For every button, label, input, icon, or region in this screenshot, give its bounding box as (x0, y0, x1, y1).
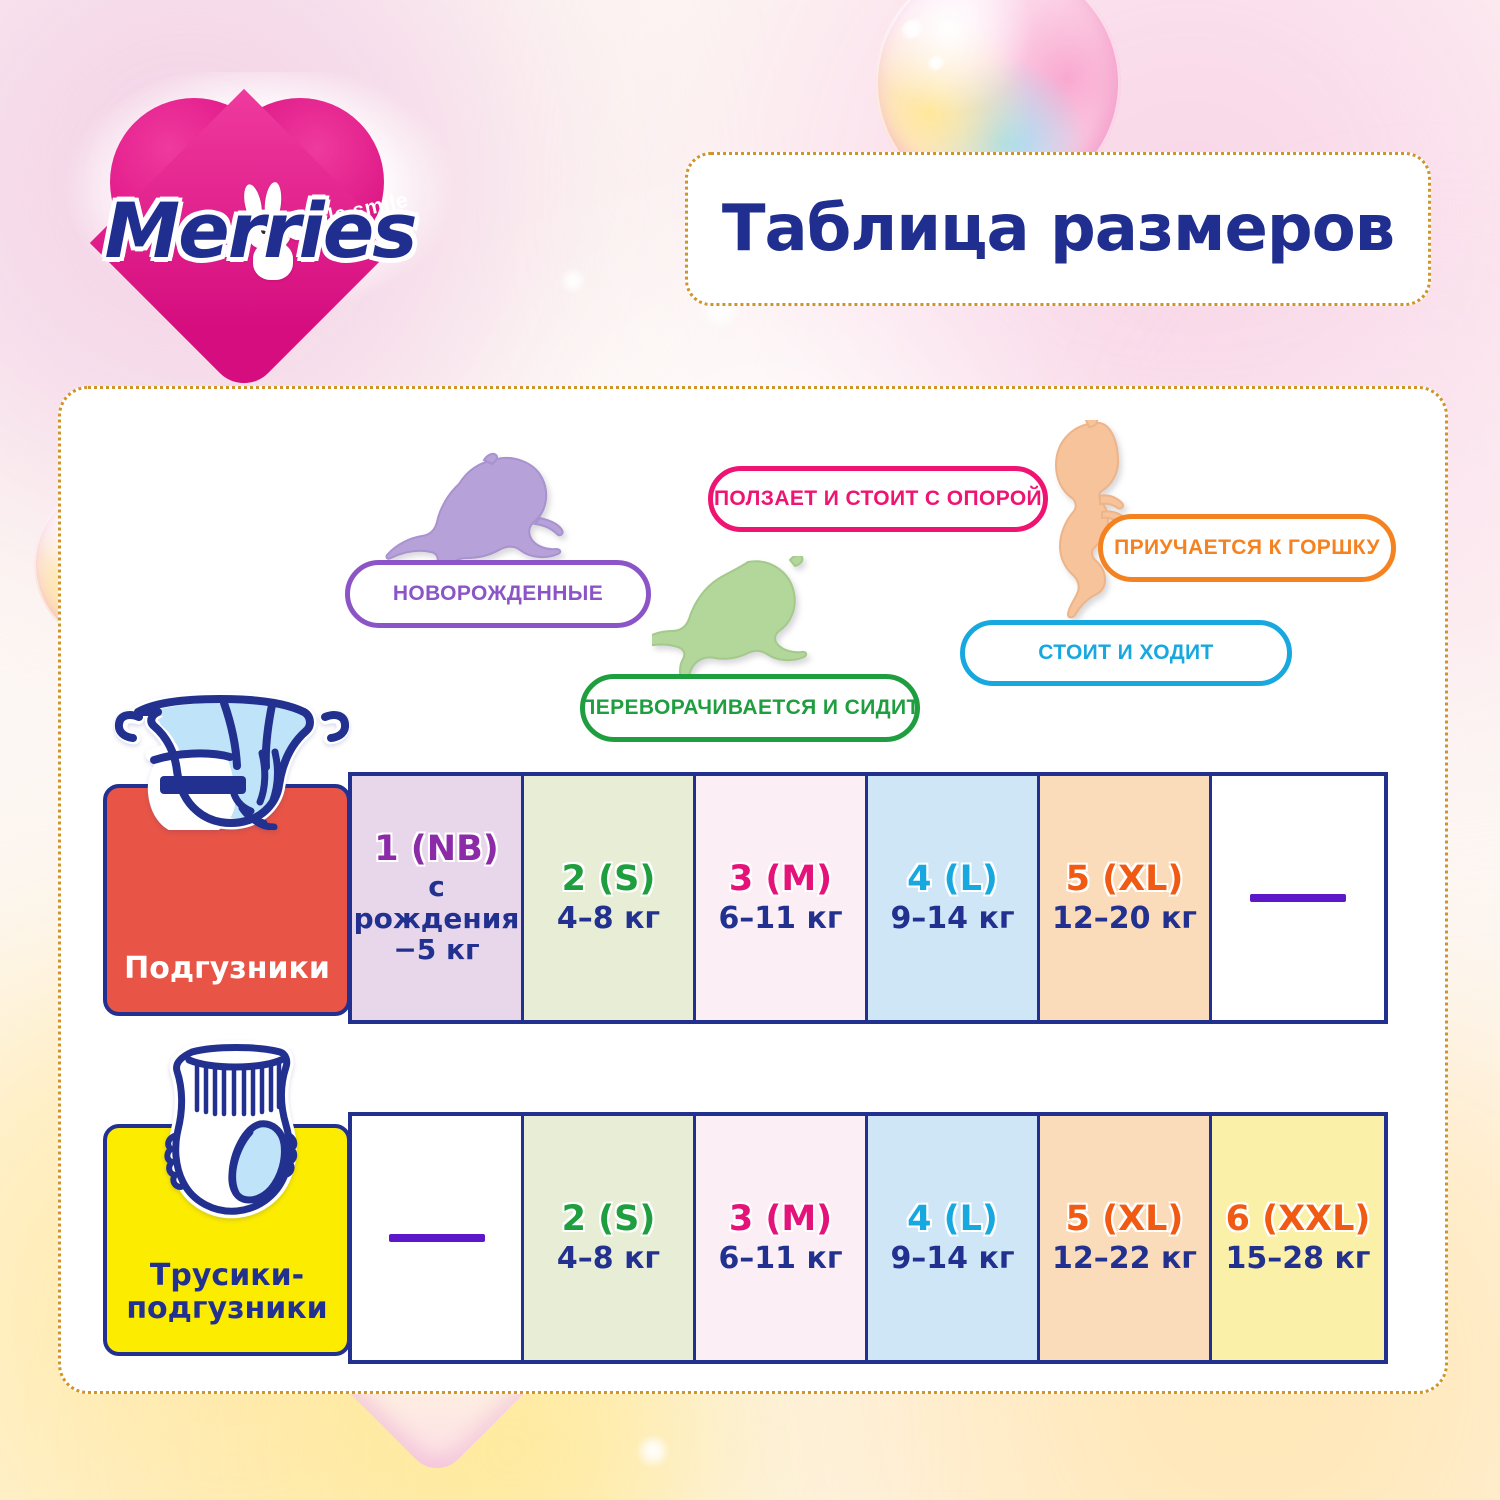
size-label: 4 (L) (907, 861, 998, 898)
size-label: 5 (XL) (1066, 1201, 1184, 1238)
weight-range-label: 6–11 кг (718, 1242, 842, 1276)
merries-logo: smile smile Merries (80, 86, 440, 301)
stage-pill-newborn-label: НОВОРОЖДЕННЫЕ (393, 582, 603, 606)
sparkle (636, 1434, 670, 1468)
size-label: 2 (S) (562, 1201, 656, 1238)
size-label: 3 (M) (729, 1201, 832, 1238)
stage-pill-stands-and-walks[interactable]: СТОИТ И ХОДИТ (960, 620, 1292, 686)
size-cell-pants-2[interactable]: 2 (S)4–8 кг (524, 1116, 696, 1360)
weight-range-label: 4–8 кг (557, 902, 660, 936)
stage-pill-newborn[interactable]: НОВОРОЖДЕННЫЕ (345, 560, 651, 628)
stage-pill-rolls-and-sits-label: ПЕРЕВОРАЧИВАЕТСЯ И СИДИТ (580, 696, 920, 720)
size-label: 4 (L) (907, 1201, 998, 1238)
page-title: Таблица размеров (722, 192, 1394, 266)
stage-pill-rolls-and-sits[interactable]: ПЕРЕВОРАЧИВАЕТСЯ И СИДИТ (580, 674, 920, 742)
size-cell-empty-dash (1250, 894, 1346, 902)
table-row-diapers: 1 (NB)с рождения−5 кг2 (S)4–8 кг3 (M)6–1… (348, 772, 1388, 1024)
size-cell-pants-4[interactable]: 4 (L)9–14 кг (868, 1116, 1040, 1360)
size-label: 5 (XL) (1066, 861, 1184, 898)
stage-pill-crawls-and-stands-label: ПОЛЗАЕТ И СТОИТ С ОПОРОЙ (714, 487, 1042, 511)
stage-pill-potty-training[interactable]: ПРИУЧАЕТСЯ К ГОРШКУ (1098, 514, 1396, 582)
product-label-diapers-text: Подгузники (124, 952, 330, 1012)
size-label: 2 (S) (562, 861, 656, 898)
weight-range-label: с рождения−5 кг (352, 871, 521, 965)
size-cell-pants-6[interactable]: 6 (XXL)15–28 кг (1212, 1116, 1384, 1360)
stage-pill-crawls-and-stands[interactable]: ПОЛЗАЕТ И СТОИТ С ОПОРОЙ (708, 466, 1048, 532)
size-cell-empty-dash (389, 1234, 485, 1242)
size-cell-diapers-4[interactable]: 4 (L)9–14 кг (868, 776, 1040, 1020)
size-cell-diapers-2[interactable]: 2 (S)4–8 кг (524, 776, 696, 1020)
size-cell-pants-5[interactable]: 5 (XL)12–22 кг (1040, 1116, 1212, 1360)
size-label: 6 (XXL) (1226, 1201, 1371, 1238)
size-cell-diapers-5[interactable]: 5 (XL)12–20 кг (1040, 776, 1212, 1020)
size-cell-pants-1[interactable] (352, 1116, 524, 1360)
size-cell-pants-3[interactable]: 3 (M)6–11 кг (696, 1116, 868, 1360)
page-title-plate: Таблица размеров (685, 152, 1431, 306)
product-label-pants-text: Трусики-подгузники (126, 1259, 327, 1352)
weight-range-label: 4–8 кг (557, 1242, 660, 1276)
size-cell-diapers-1[interactable]: 1 (NB)с рождения−5 кг (352, 776, 524, 1020)
size-label: 3 (M) (729, 861, 832, 898)
table-row-pants: 2 (S)4–8 кг3 (M)6–11 кг4 (L)9–14 кг5 (XL… (348, 1112, 1388, 1364)
sparkle (560, 268, 586, 294)
weight-range-label: 9–14 кг (890, 1242, 1014, 1276)
size-cell-diapers-3[interactable]: 3 (M)6–11 кг (696, 776, 868, 1020)
size-label: 1 (NB) (374, 831, 499, 868)
stage-pill-stands-and-walks-label: СТОИТ И ХОДИТ (1038, 641, 1214, 665)
tape-diaper-icon (112, 690, 352, 830)
weight-range-label: 9–14 кг (890, 902, 1014, 936)
weight-range-label: 15–28 кг (1226, 1242, 1371, 1276)
stage-pill-potty-training-label: ПРИУЧАЕТСЯ К ГОРШКУ (1114, 536, 1380, 560)
pull-up-pants-icon (140, 1040, 330, 1220)
weight-range-label: 6–11 кг (718, 902, 842, 936)
weight-range-label: 12–20 кг (1052, 902, 1197, 936)
size-cell-diapers-6[interactable] (1212, 776, 1384, 1020)
weight-range-label: 12–22 кг (1052, 1242, 1197, 1276)
logo-wordmark: Merries (80, 186, 440, 275)
